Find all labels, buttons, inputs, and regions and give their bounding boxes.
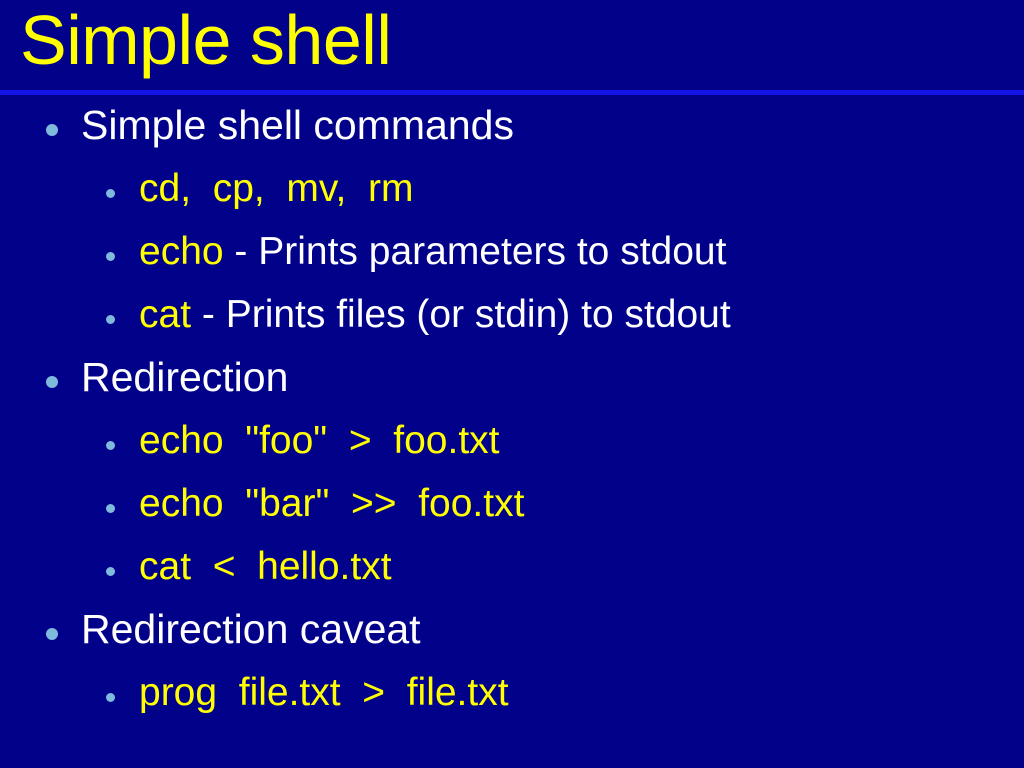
- bullet-text-span: - Prints parameters to stdout: [224, 230, 727, 273]
- slide: Simple shell Simple shell commandscd, cp…: [0, 0, 1024, 768]
- bullet-text-span: - Prints files (or stdin) to stdout: [191, 293, 731, 336]
- bullet-text: cat - Prints files (or stdin) to stdout: [139, 291, 731, 339]
- bullet-line: cd, cp, mv, rm: [0, 158, 1024, 221]
- bullet-dot-icon: [106, 504, 115, 513]
- bullet-text: Redirection: [81, 352, 288, 402]
- bullet-text: cd, cp, mv, rm: [139, 165, 413, 213]
- bullet-dot-icon: [46, 628, 58, 640]
- bullet-line: cat - Prints files (or stdin) to stdout: [0, 284, 1024, 347]
- bullet-line: Simple shell commands: [0, 95, 1024, 158]
- bullet-line: echo "bar" >> foo.txt: [0, 473, 1024, 536]
- slide-body: Simple shell commandscd, cp, mv, rmecho …: [0, 95, 1024, 768]
- bullet-text: prog file.txt > file.txt: [139, 669, 509, 717]
- bullet-text: Redirection caveat: [81, 604, 421, 654]
- bullet-text: cat < hello.txt: [139, 543, 392, 591]
- bullet-dot-icon: [106, 441, 115, 450]
- bullet-text: echo - Prints parameters to stdout: [139, 228, 726, 276]
- bullet-dot-icon: [106, 189, 115, 198]
- bullet-dot-icon: [106, 252, 115, 261]
- bullet-text-span: cat: [139, 293, 191, 336]
- bullet-line: prog file.txt > file.txt: [0, 662, 1024, 725]
- slide-title-area: Simple shell: [0, 0, 1024, 92]
- bullet-text: echo "foo" > foo.txt: [139, 417, 499, 465]
- bullet-line: echo - Prints parameters to stdout: [0, 221, 1024, 284]
- bullet-line: Redirection: [0, 347, 1024, 410]
- bullet-dot-icon: [46, 124, 58, 136]
- bullet-dot-icon: [106, 567, 115, 576]
- bullet-line: cat < hello.txt: [0, 536, 1024, 599]
- bullet-line: echo "foo" > foo.txt: [0, 410, 1024, 473]
- bullet-text: echo "bar" >> foo.txt: [139, 480, 524, 528]
- bullet-dot-icon: [46, 376, 58, 388]
- bullet-dot-icon: [106, 315, 115, 324]
- page-title: Simple shell: [20, 0, 391, 82]
- bullet-text-span: echo: [139, 230, 224, 273]
- bullet-text: Simple shell commands: [81, 100, 514, 150]
- bullet-line: Redirection caveat: [0, 599, 1024, 662]
- bullet-dot-icon: [106, 693, 115, 702]
